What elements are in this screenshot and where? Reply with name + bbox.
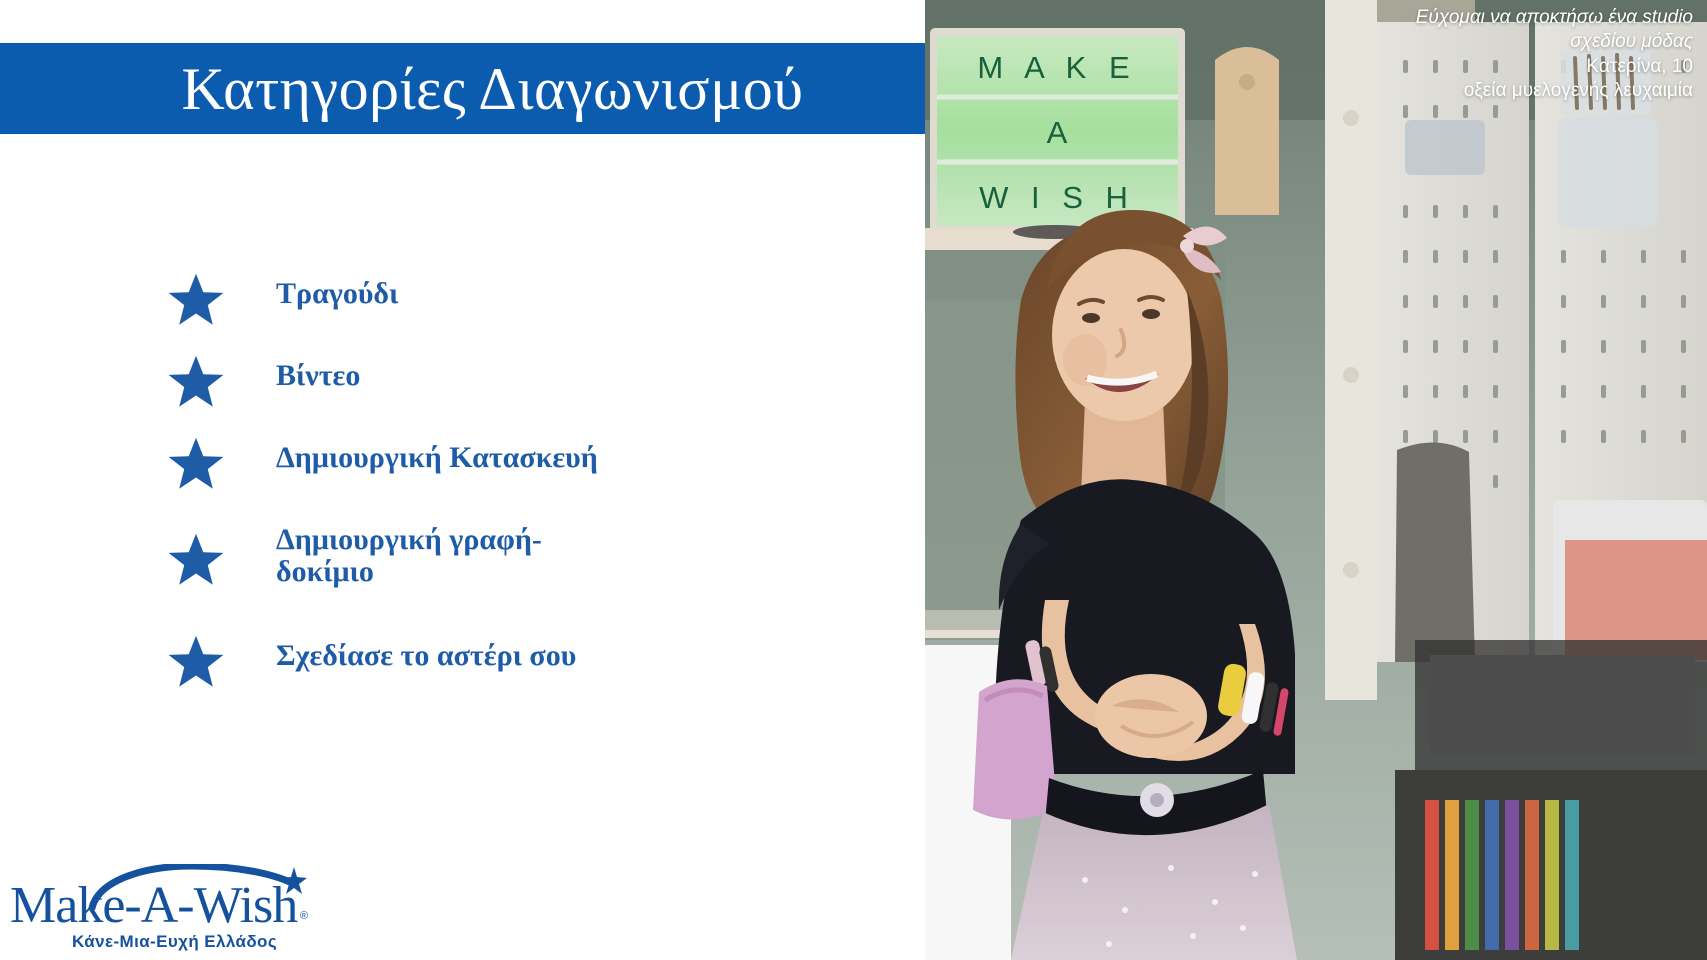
list-item-label: Βίντεο xyxy=(276,354,360,392)
caption-wish-line2: σχεδίου μόδας xyxy=(1263,30,1693,54)
list-item[interactable]: Σχεδίασε το αστέρι σου xyxy=(168,634,868,690)
categories-list: Τραγούδι Βίντεο Δημιουργική Κατασκευή Δη… xyxy=(168,272,868,690)
presentation-slide: Κατηγορίες Διαγωνισμού Τραγούδι Βίντεο Δ… xyxy=(0,0,1707,960)
caption-name-age: Κατερίνα, 10 xyxy=(1263,55,1693,79)
logo-mark: Make-A-Wish ® xyxy=(10,868,306,930)
logo-tagline: Κάνε-Μια-Ευχή Ελλάδος xyxy=(72,932,310,952)
list-item-label: Τραγούδι xyxy=(276,272,398,310)
list-item-label: Δημιουργική Κατασκευή xyxy=(276,436,598,474)
photo-panel: M A K E A W I S H xyxy=(925,0,1707,960)
list-item[interactable]: Δημιουργική γραφή-δοκίμιο xyxy=(168,518,868,608)
make-a-wish-logo: Make-A-Wish ® Κάνε-Μια-Ευχή Ελλάδος xyxy=(10,868,310,952)
star-icon xyxy=(168,354,224,408)
star-icon xyxy=(168,532,224,586)
star-icon xyxy=(168,436,224,490)
list-item-label: Δημιουργική γραφή-δοκίμιο xyxy=(276,518,606,589)
list-item[interactable]: Τραγούδι xyxy=(168,272,868,328)
wish-child-photo: M A K E A W I S H xyxy=(925,0,1707,960)
list-item[interactable]: Δημιουργική Κατασκευή xyxy=(168,436,868,492)
caption-wish-line1: Εύχομαι να αποκτήσω ένα studio xyxy=(1263,6,1693,30)
list-item[interactable]: Βίντεο xyxy=(168,354,868,410)
registered-mark: ® xyxy=(300,910,308,922)
photo-caption: Εύχομαι να αποκτήσω ένα studio σχεδίου μ… xyxy=(1263,6,1693,103)
list-item-label: Σχεδίασε το αστέρι σου xyxy=(276,634,576,672)
title-banner: Κατηγορίες Διαγωνισμού xyxy=(0,43,925,134)
star-icon xyxy=(168,634,224,688)
caption-diagnosis: οξεία μυελογενής λευχαιμία xyxy=(1263,79,1693,103)
page-title: Κατηγορίες Διαγωνισμού xyxy=(182,59,804,119)
logo-wordmark: Make-A-Wish xyxy=(10,876,297,935)
star-icon xyxy=(168,272,224,326)
